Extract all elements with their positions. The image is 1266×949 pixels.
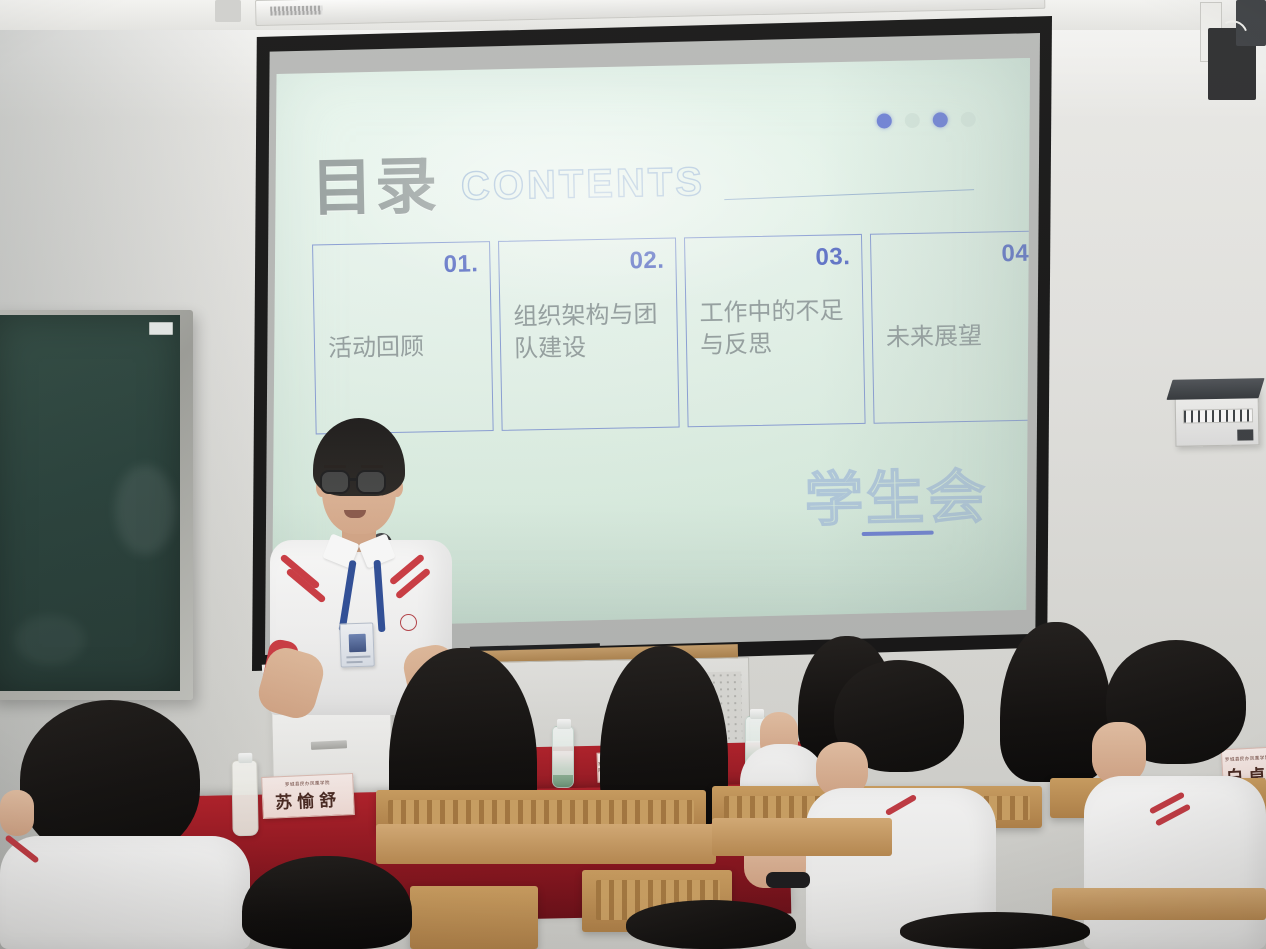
tea-bottle[interactable]	[231, 760, 258, 836]
roller-brand-badge	[270, 6, 322, 16]
glasses-bridge	[350, 478, 358, 481]
audience-hand	[0, 790, 34, 836]
slide-contents-boxes: 01. 活动回顾 02. 组织架构与团队建设 03. 工作中的不足与反思 04.…	[312, 230, 1030, 434]
panel-lid	[1166, 378, 1264, 400]
bottle-cap	[557, 719, 571, 729]
slide-watermark-underline	[862, 531, 934, 536]
contents-item-2: 02. 组织架构与团队建设	[498, 238, 680, 431]
ceiling-fixture	[215, 0, 241, 22]
badge-photo	[349, 634, 367, 653]
slide-watermark: 学生会	[804, 450, 989, 537]
bench-front-panel	[410, 886, 538, 949]
chalk-smudge	[115, 465, 175, 555]
panel-indicator	[1237, 429, 1253, 440]
name-card-name: 苏愉舒	[275, 785, 342, 813]
contents-item-1: 01. 活动回顾	[312, 241, 494, 434]
pager-dot-4	[961, 112, 976, 127]
slide-title-en: CONTENTS	[461, 160, 706, 216]
badge-text-line	[346, 656, 370, 659]
chalkboard-label-tag	[149, 322, 173, 335]
pager-dot-1	[877, 113, 892, 128]
bottle-cap	[750, 709, 764, 719]
contents-item-4-number: 04.	[1001, 240, 1030, 269]
slide-title-cn: 目录	[310, 157, 439, 218]
audience-face	[1092, 722, 1146, 784]
presenter-shirt-logo	[400, 614, 417, 631]
bench-desktop	[376, 824, 716, 864]
presenter-eyebrow-right	[361, 465, 383, 468]
chalk-smudge	[15, 615, 85, 665]
audience-member-head	[626, 900, 796, 949]
slide-title-row: 目录 CONTENTS	[310, 146, 991, 218]
pager-dot-2	[905, 113, 920, 128]
chalkboard-surface	[0, 315, 180, 691]
contents-item-3-label: 工作中的不足与反思	[699, 295, 853, 361]
badge-text-line	[347, 661, 363, 664]
water-bottle[interactable]	[552, 726, 574, 788]
wristwatch	[766, 872, 810, 888]
audience-member-head	[900, 912, 1090, 949]
bench-desktop	[712, 818, 892, 856]
contents-item-2-label: 组织架构与团队建设	[513, 299, 667, 365]
id-badge	[339, 622, 375, 667]
electrical-panel[interactable]	[1175, 387, 1260, 446]
glasses-lens-left	[320, 470, 350, 494]
bench-slats	[388, 800, 694, 824]
glasses-lens-right	[356, 470, 386, 494]
bench-desktop	[1052, 888, 1266, 920]
chalkboard	[0, 310, 193, 700]
bottle-label	[553, 751, 573, 775]
breaker-switch-row[interactable]	[1183, 408, 1253, 423]
pager-dot-3	[933, 112, 948, 127]
presenter-eyebrow-left	[324, 465, 346, 468]
contents-item-3: 03. 工作中的不足与反思	[684, 234, 866, 427]
contents-item-2-number: 02.	[629, 247, 664, 276]
contents-item-3-number: 03.	[815, 243, 850, 272]
slide-pager-dots	[877, 112, 976, 129]
audience-shirt	[0, 836, 250, 949]
contents-item-1-label: 活动回顾	[328, 330, 482, 365]
contents-item-4: 04. 未来展望	[870, 230, 1030, 423]
contents-item-4-label: 未来展望	[886, 320, 1030, 355]
name-card-front: 罗城县民办凤凰学院 苏愉舒	[261, 773, 355, 819]
classroom-presentation-scene: 目录 CONTENTS 01. 活动回顾 02. 组织架构与团队建设 03. 工…	[0, 0, 1266, 949]
contents-item-1-number: 01.	[443, 250, 478, 279]
podium-handle[interactable]	[311, 740, 347, 750]
bottle-cap	[238, 753, 252, 763]
